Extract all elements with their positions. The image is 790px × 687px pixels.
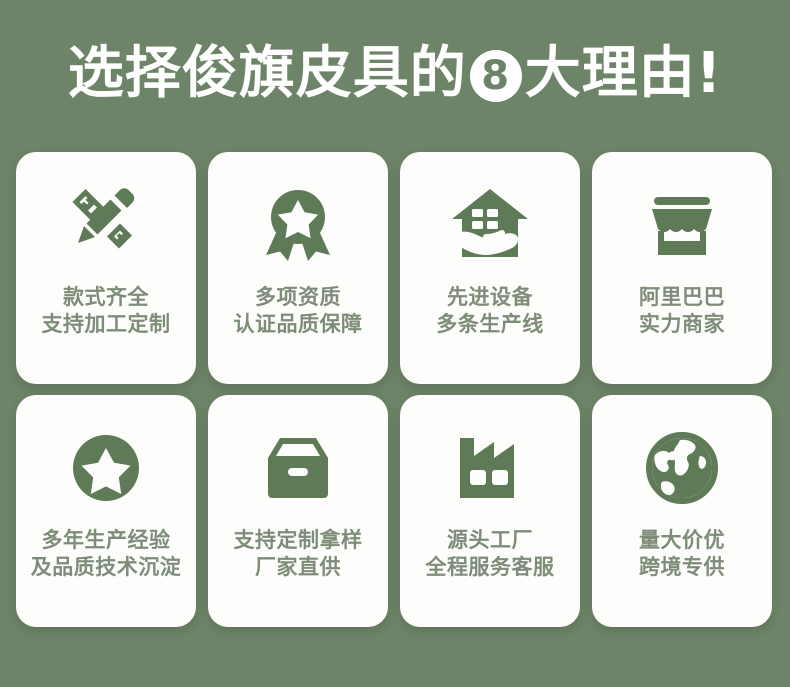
reason-card-5[interactable]: 多年生产经验 及品质技术沉淀 bbox=[16, 395, 196, 627]
factory-icon bbox=[447, 425, 533, 511]
reason-card-8-text: 量大价优 跨境专供 bbox=[592, 527, 772, 582]
reason-card-7-line2: 全程服务客服 bbox=[400, 554, 580, 581]
pencil-ruler-icon bbox=[63, 182, 149, 268]
storefront-icon bbox=[639, 182, 725, 268]
reason-card-8-line2: 跨境专供 bbox=[592, 554, 772, 581]
reason-card-2[interactable]: 多项资质 认证品质保障 bbox=[208, 152, 388, 384]
reason-card-8-line1: 量大价优 bbox=[639, 528, 725, 552]
reason-card-2-line2: 认证品质保障 bbox=[208, 311, 388, 338]
star-circle-icon bbox=[63, 425, 149, 511]
box-archive-icon bbox=[255, 425, 341, 511]
title-suffix: 大理由! bbox=[525, 46, 723, 102]
reason-card-2-line1: 多项资质 bbox=[255, 285, 341, 309]
promo-poster: 选择俊旗皮具的 8 大理由! bbox=[0, 0, 790, 687]
reason-card-2-text: 多项资质 认证品质保障 bbox=[208, 284, 388, 339]
reason-card-6-line1: 支持定制拿样 bbox=[234, 528, 363, 552]
reason-card-4-line2: 实力商家 bbox=[592, 311, 772, 338]
reason-card-4-line1: 阿里巴巴 bbox=[639, 285, 725, 309]
reason-card-1-line1: 款式齐全 bbox=[63, 285, 149, 309]
reason-card-6[interactable]: 支持定制拿样 厂家直供 bbox=[208, 395, 388, 627]
reason-card-5-text: 多年生产经验 及品质技术沉淀 bbox=[16, 527, 196, 582]
reason-card-6-text: 支持定制拿样 厂家直供 bbox=[208, 527, 388, 582]
reason-card-6-line2: 厂家直供 bbox=[208, 554, 388, 581]
reason-card-5-line2: 及品质技术沉淀 bbox=[16, 554, 196, 581]
reason-card-1[interactable]: 款式齐全 支持加工定制 bbox=[16, 152, 196, 384]
globe-icon bbox=[639, 425, 725, 511]
house-hand-icon bbox=[447, 182, 533, 268]
reason-card-4[interactable]: 阿里巴巴 实力商家 bbox=[592, 152, 772, 384]
reason-card-7-line1: 源头工厂 bbox=[447, 528, 533, 552]
title-prefix: 选择俊旗皮具的 bbox=[68, 46, 467, 102]
reason-card-8[interactable]: 量大价优 跨境专供 bbox=[592, 395, 772, 627]
poster-title: 选择俊旗皮具的 8 大理由! bbox=[0, 34, 790, 114]
reason-card-1-text: 款式齐全 支持加工定制 bbox=[16, 284, 196, 339]
award-medal-star-icon bbox=[255, 182, 341, 268]
title-number-badge: 8 bbox=[470, 50, 522, 102]
reason-card-1-line2: 支持加工定制 bbox=[16, 311, 196, 338]
reasons-grid: 款式齐全 支持加工定制 多项资质 认证品质保障 bbox=[16, 152, 774, 627]
reason-card-7-text: 源头工厂 全程服务客服 bbox=[400, 527, 580, 582]
reason-card-7[interactable]: 源头工厂 全程服务客服 bbox=[400, 395, 580, 627]
reason-card-3-text: 先进设备 多条生产线 bbox=[400, 284, 580, 339]
reason-card-3[interactable]: 先进设备 多条生产线 bbox=[400, 152, 580, 384]
reason-card-5-line1: 多年生产经验 bbox=[42, 528, 171, 552]
reason-card-3-line2: 多条生产线 bbox=[400, 311, 580, 338]
reason-card-4-text: 阿里巴巴 实力商家 bbox=[592, 284, 772, 339]
reason-card-3-line1: 先进设备 bbox=[447, 285, 533, 309]
